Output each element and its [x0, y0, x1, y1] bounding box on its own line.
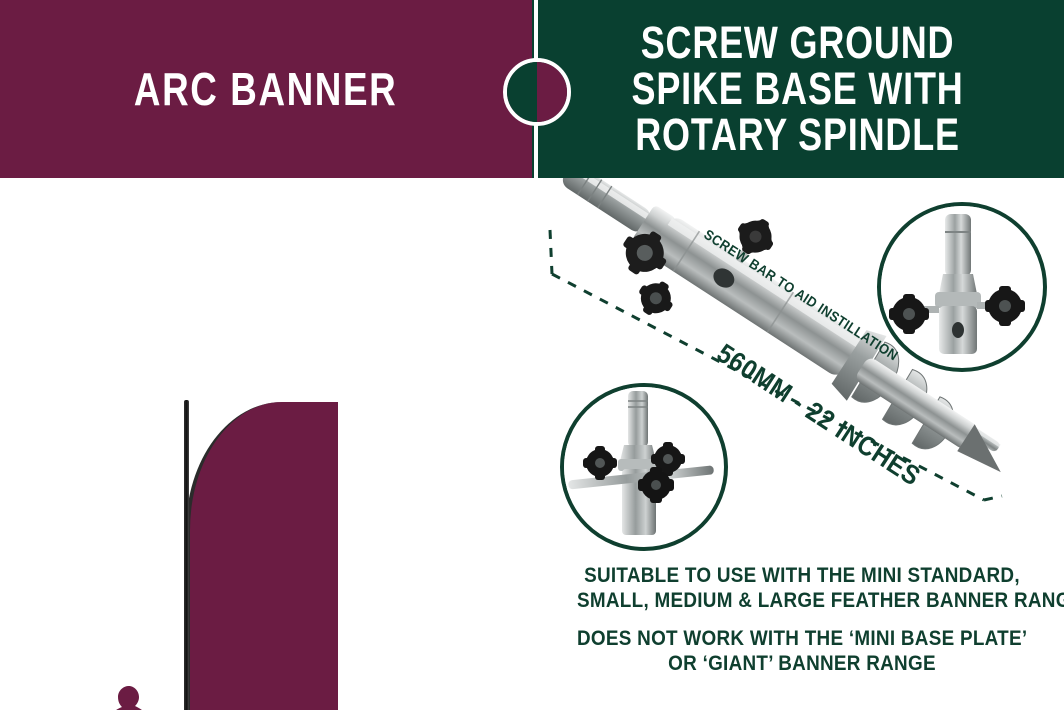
product-photo-panel: SCREW BAR TO AID INSTILLATION 560MM - 22… — [532, 178, 1064, 710]
divider-line-top — [534, 0, 538, 60]
arc-banner-flag — [186, 402, 338, 710]
supported-line-2: SMALL, MEDIUM & LARGE FEATHER BANNER RAN… — [577, 589, 1027, 614]
title-line-3: ROTARY SPINDLE — [632, 112, 964, 158]
unsupported-line-1: DOES NOT WORK WITH THE ‘MINI BASE PLATE’ — [577, 627, 1027, 652]
header-bar: ARC BANNER SCREW GROUND SPIKE BASE WITH … — [0, 0, 1064, 178]
title-line-2: SPIKE BASE WITH — [632, 66, 964, 112]
compatibility-notes: SUITABLE TO USE WITH THE MINI STANDARD, … — [552, 564, 1052, 676]
screw-ground-spike-photo: SCREW BAR TO AID INSTILLATION 560MM - 22… — [532, 178, 1064, 538]
header-left-panel: ARC BANNER — [0, 0, 532, 178]
inset-rotary-spindle-closeup — [877, 202, 1047, 372]
split-circle-divider-icon — [503, 58, 571, 126]
supported-line-1: SUITABLE TO USE WITH THE MINI STANDARD, — [577, 564, 1027, 589]
infographic-page: ARC BANNER SCREW GROUND SPIKE BASE WITH … — [0, 0, 1064, 710]
divider-half-right — [537, 62, 567, 122]
title-line-1: SCREW GROUND — [632, 20, 964, 66]
banner-illustration-panel: 1.82MTR 6FT 4.20 X 0.70M BANNER SIZE (5.… — [0, 178, 532, 710]
header-right-panel: SCREW GROUND SPIKE BASE WITH ROTARY SPIN… — [532, 0, 1064, 178]
unsupported-line-2: OR ‘GIANT’ BANNER RANGE — [577, 652, 1027, 677]
person-silhouette-icon — [99, 684, 165, 710]
inset-screw-bar-fitted-closeup — [560, 383, 728, 551]
flag-pole — [184, 400, 189, 710]
page-title-left: ARC BANNER — [134, 66, 397, 112]
compatibility-note-supported: SUITABLE TO USE WITH THE MINI STANDARD, … — [577, 564, 1027, 613]
page-title-right: SCREW GROUND SPIKE BASE WITH ROTARY SPIN… — [632, 20, 964, 158]
divider-line-bottom — [534, 124, 538, 178]
compatibility-note-unsupported: DOES NOT WORK WITH THE ‘MINI BASE PLATE’… — [577, 627, 1027, 676]
divider-half-left — [507, 62, 537, 122]
